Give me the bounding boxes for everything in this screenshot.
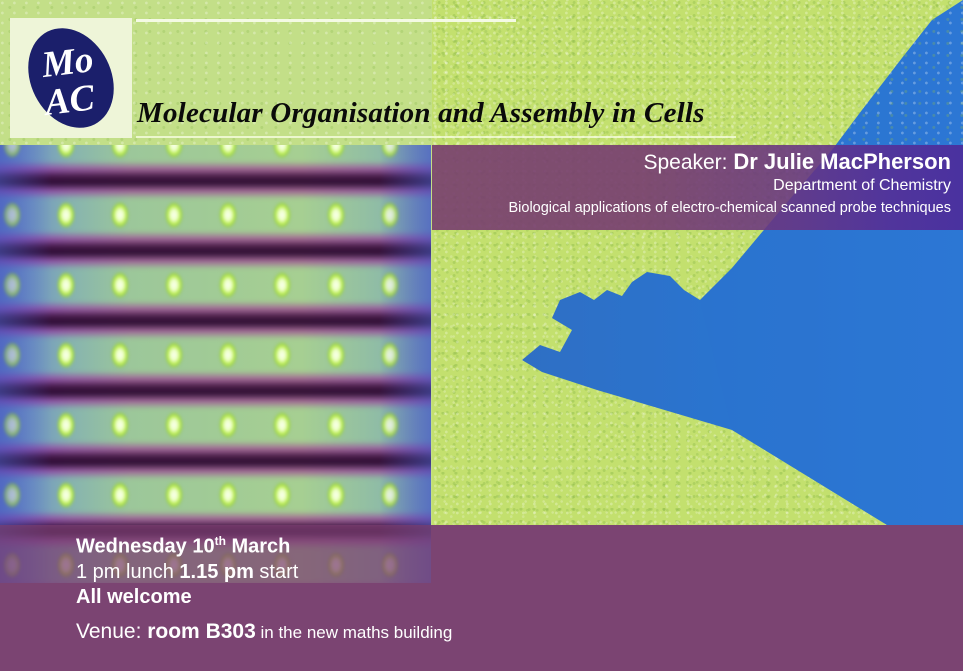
header-title-rule — [136, 136, 736, 138]
event-time: 1 pm lunch 1.15 pm start — [76, 560, 298, 585]
event-date-ordinal: th — [215, 534, 226, 548]
svg-text:AC: AC — [41, 77, 98, 124]
page-title: Molecular Organisation and Assembly in C… — [137, 97, 705, 130]
speaker-name: Dr Julie MacPherson — [733, 149, 951, 174]
event-time-suffix: start — [254, 561, 298, 583]
event-date: Wednesday 10th March — [76, 529, 298, 560]
event-time-prefix: 1 pm lunch — [76, 561, 179, 583]
talk-title: Biological applications of electro-chemi… — [432, 198, 951, 218]
moac-logo: Mo AC — [10, 18, 132, 138]
event-details-block: Wednesday 10th March 1 pm lunch 1.15 pm … — [76, 529, 298, 610]
afm-lattice-scan-image — [0, 145, 431, 583]
event-date-month: March — [226, 536, 290, 558]
speaker-label: Speaker: — [643, 151, 727, 174]
venue-room: room B303 — [147, 620, 256, 643]
probe-wedge-shape — [432, 0, 963, 525]
venue-description: in the new maths building — [256, 623, 453, 642]
scan-edge-vignette — [0, 145, 431, 583]
venue-block: Venue: room B303 in the new maths buildi… — [76, 620, 452, 644]
moac-logo-ellipse-icon: Mo AC — [21, 22, 121, 134]
details-panel-right — [431, 525, 963, 671]
header-top-rule — [136, 19, 516, 22]
welcome-note: All welcome — [76, 585, 298, 610]
seminar-poster: Mo AC Molecular Organisation and Assembl… — [0, 0, 963, 671]
event-date-text: Wednesday 10 — [76, 536, 215, 558]
speaker-band: Speaker: Dr Julie MacPherson Department … — [432, 145, 963, 230]
venue-label: Venue: — [76, 620, 147, 643]
secm-probe-scan-image — [432, 0, 963, 525]
speaker-name-line: Speaker: Dr Julie MacPherson — [432, 149, 951, 176]
event-start-time: 1.15 pm — [179, 561, 253, 583]
speaker-department: Department of Chemistry — [432, 176, 951, 196]
